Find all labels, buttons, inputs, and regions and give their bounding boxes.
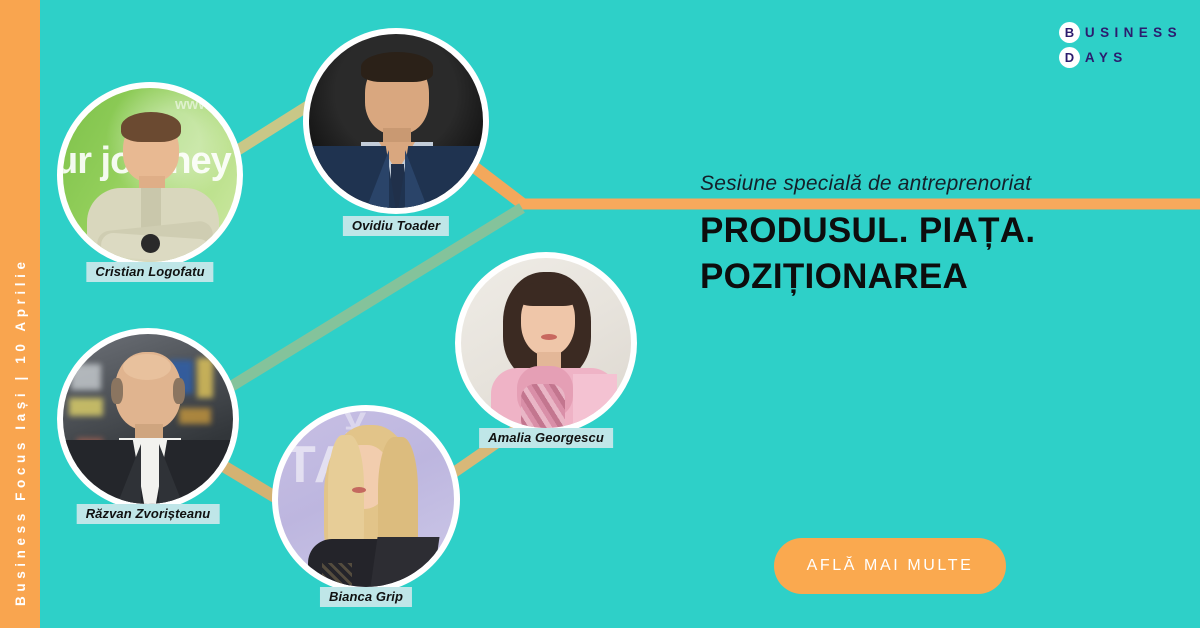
speaker-name: Amalia Georgescu [479, 428, 613, 448]
speaker-card-ovidiu-toader: Ovidiu Toader [303, 28, 489, 214]
page-title: PRODUSUL. PIAȚA. POZIȚIONAREA [700, 208, 1170, 300]
avatar-ring: TA ¥ [272, 405, 460, 593]
avatar [309, 34, 483, 208]
logo-word-business: USINESS [1085, 22, 1182, 43]
avatar: ur journey www [63, 88, 237, 262]
logo-line-business: B USINESS [1059, 22, 1182, 43]
speaker-card-bianca-grip: TA ¥ Bianca [272, 405, 460, 593]
speaker-card-razvan-zvoristeanu: Răzvan Zvorișteanu [57, 328, 239, 510]
avatar-ring [303, 28, 489, 214]
logo-line-days: D AYS [1059, 47, 1182, 68]
avatar-ring: ur journey www [57, 82, 243, 268]
speaker-name: Cristian Logofatu [86, 262, 213, 282]
business-days-logo: B USINESS D AYS [1059, 22, 1182, 68]
avatar-ring [455, 252, 637, 434]
speaker-card-cristian-logofatu: ur journey www [57, 82, 243, 268]
date-rail-label: Business Focus Iași | 10 Aprilie [0, 0, 40, 628]
avatar [63, 334, 233, 504]
learn-more-button[interactable]: AFLĂ MAI MULTE [774, 538, 1006, 594]
avatar [461, 258, 631, 428]
session-subtitle: Sesiune specială de antreprenoriat [700, 172, 1031, 196]
avatar-ring [57, 328, 239, 510]
promo-banner: ur journey www [0, 0, 1200, 628]
speaker-name: Ovidiu Toader [343, 216, 449, 236]
speaker-card-amalia-georgescu: Amalia Georgescu [455, 252, 637, 434]
logo-word-days: AYS [1085, 47, 1128, 68]
speaker-name: Bianca Grip [320, 587, 412, 607]
date-rail: Business Focus Iași | 10 Aprilie [0, 0, 40, 628]
logo-badge-d: D [1059, 47, 1080, 68]
logo-badge-b: B [1059, 22, 1080, 43]
speaker-name: Răzvan Zvorișteanu [77, 504, 220, 524]
avatar: TA ¥ [278, 411, 454, 587]
